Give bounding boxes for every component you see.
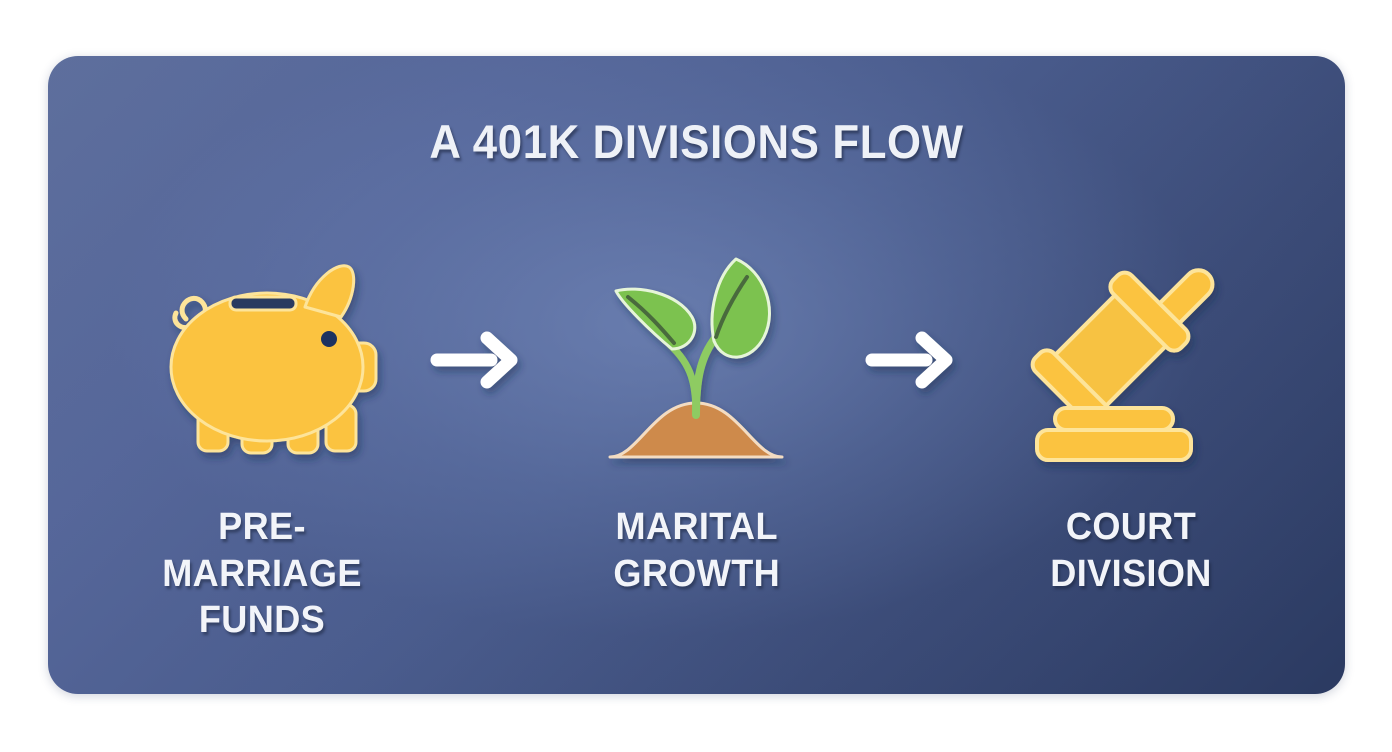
flow-step-court-division[interactable]: COURT DIVISION [982,242,1282,597]
infographic-panel: A 401K DIVISIONS FLOW [48,56,1345,694]
flow-diagram: PRE-MARRIAGE FUNDS [48,242,1345,662]
arrow-right-icon [412,242,547,478]
piggy-bank-icon [137,242,387,478]
flow-step-marital-growth[interactable]: MARITAL GROWTH [547,242,847,597]
flow-step-label: PRE-MARRIAGE FUNDS [119,504,404,644]
gavel-icon [1007,242,1257,478]
flow-step-label: MARITAL GROWTH [613,504,780,597]
seedling-plant-icon [572,242,822,478]
arrow-right-icon [847,242,982,478]
infographic-root: A 401K DIVISIONS FLOW [0,0,1392,752]
flow-step-label: COURT DIVISION [1051,504,1213,597]
page-title: A 401K DIVISIONS FLOW [93,114,1299,169]
flow-step-pre-marriage-funds[interactable]: PRE-MARRIAGE FUNDS [112,242,412,644]
